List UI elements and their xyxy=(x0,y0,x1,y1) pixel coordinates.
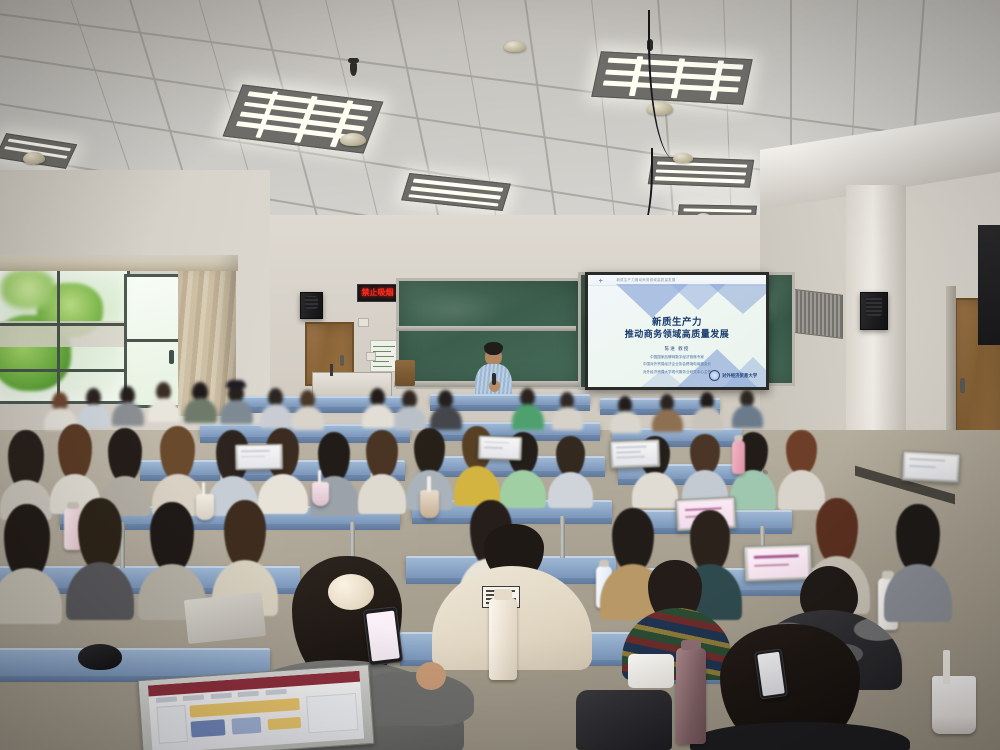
laptop[interactable] xyxy=(478,435,523,461)
notebook xyxy=(184,592,266,644)
mouse[interactable] xyxy=(78,644,122,670)
student-long-hair xyxy=(816,498,858,564)
presenter-hair xyxy=(484,342,503,355)
slide-triangle-decor xyxy=(709,284,766,314)
door-handle-icon[interactable] xyxy=(340,355,344,366)
blackboard-middle-rail xyxy=(396,326,576,331)
laptop[interactable] xyxy=(901,451,960,484)
ceiling-light-panel xyxy=(648,156,754,187)
student-long-hair xyxy=(366,430,398,478)
led-text: 禁止吸烟 xyxy=(362,289,394,297)
thermos-bottle xyxy=(676,648,706,744)
curtain-left-rod-valance xyxy=(0,255,238,271)
student-long-hair xyxy=(690,434,720,474)
smoke-detector xyxy=(23,152,45,164)
smoke-detector xyxy=(340,133,366,146)
thermos-bottle xyxy=(489,598,517,680)
straw xyxy=(318,470,321,484)
laptop[interactable] xyxy=(235,444,283,471)
wall-speaker xyxy=(860,292,888,330)
smartphone[interactable] xyxy=(363,606,404,666)
slide-presenter-name: 陈进 教授 xyxy=(588,346,766,352)
backpack xyxy=(576,690,672,750)
student-long-hair xyxy=(318,432,350,482)
student-shoulders xyxy=(0,568,62,624)
bubble-tea-cup xyxy=(932,676,976,734)
window-handle-icon[interactable] xyxy=(169,350,174,364)
right-dark-panel xyxy=(978,225,1000,345)
student-long-hair xyxy=(108,428,142,482)
student-long-hair xyxy=(78,498,122,570)
straw xyxy=(943,650,950,684)
slide-affiliation-1: 中国国家品牌网数字经济首席专家 xyxy=(588,355,766,360)
student-long-hair xyxy=(414,428,445,474)
hair-scrunchie xyxy=(328,574,374,610)
wall-switch-panel[interactable] xyxy=(366,352,376,361)
slide-affiliation-2: 中国对外贸易经济企业协会跨境电商副会长 xyxy=(588,362,766,367)
slide-title-line2: 推动商务领域高质量发展 xyxy=(588,327,766,340)
wall-speaker xyxy=(300,292,323,319)
student-long-hair xyxy=(58,424,92,480)
student-foreground-right xyxy=(690,624,910,750)
led-notice-display: 禁止吸烟 xyxy=(357,284,398,302)
laptop[interactable] xyxy=(610,439,661,469)
student-hand xyxy=(416,662,446,690)
slide-topbar-label: 新质生产力推动商务领域高质量发展 xyxy=(616,277,675,282)
student-long-hair xyxy=(556,436,585,476)
desk-row xyxy=(0,648,270,676)
laptop-foreground[interactable] xyxy=(137,664,374,750)
student-shoulders xyxy=(66,562,134,620)
sprinkler-head xyxy=(350,62,357,76)
water-bottle xyxy=(732,440,745,474)
sprinkler-head xyxy=(348,58,359,63)
slide-plus-icon: + xyxy=(599,278,603,285)
student-long-hair xyxy=(150,502,194,572)
student-long-hair xyxy=(786,430,817,474)
lecture-hall-photo: 禁止吸烟 新质生产力推动商务领域高质量发展 + 新质生产力 推动商务领域高质量发… xyxy=(0,0,1000,750)
tissue-pack xyxy=(628,654,674,688)
laptop-screen xyxy=(148,670,364,750)
cap-icon xyxy=(226,380,246,388)
student-long-hair xyxy=(896,504,940,572)
smoke-detector xyxy=(504,41,526,52)
student-shoulders xyxy=(690,722,910,750)
wall-switch-panel[interactable] xyxy=(358,318,369,327)
student-long-hair xyxy=(160,426,195,480)
